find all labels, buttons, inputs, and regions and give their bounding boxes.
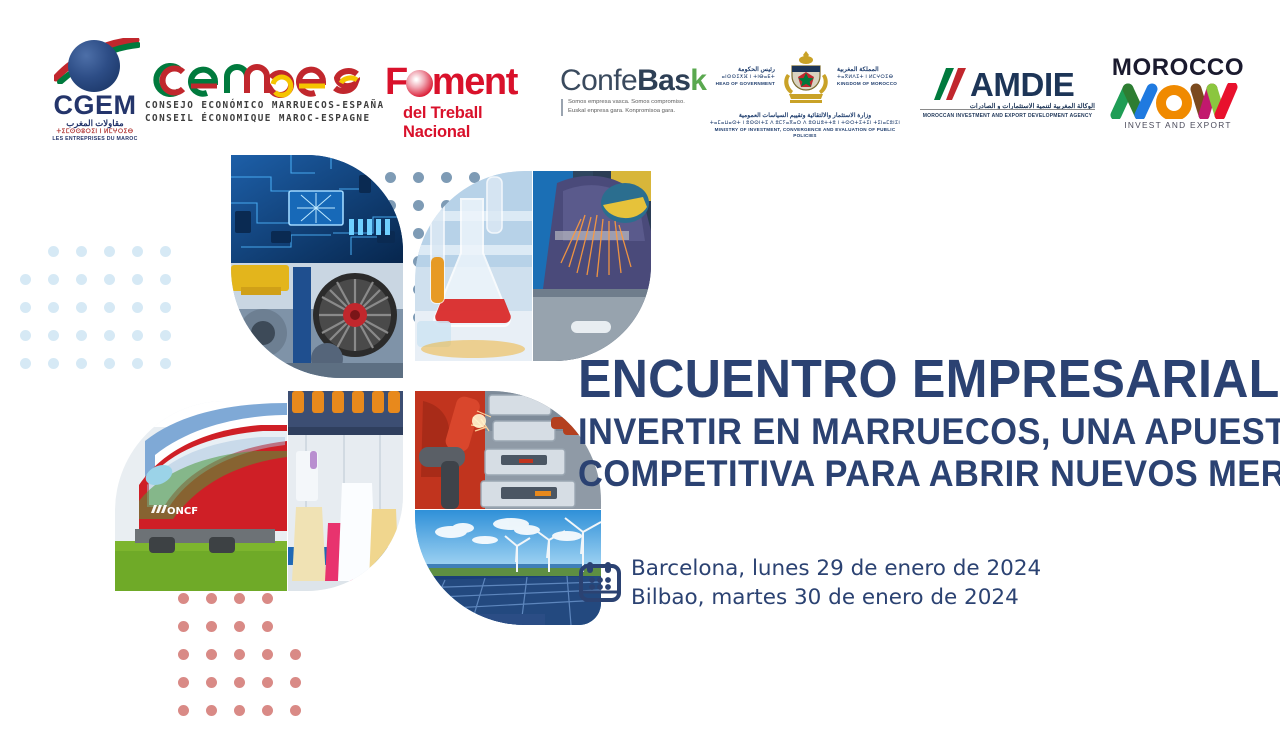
- gov-ministry-arabic: وزارة الاستثمار والالتقائية وتقييم السيا…: [705, 112, 905, 120]
- event-dates-block: Barcelona, lunes 29 de enero de 2024 Bil…: [578, 555, 1138, 617]
- collage-tile-welder: [533, 171, 651, 361]
- decorative-dot: [48, 246, 59, 257]
- cgem-globe-icon: [68, 40, 120, 92]
- gov-kingdom-english: KINGDOM OF MOROCCO: [837, 81, 905, 87]
- industry-photo-collage: ONCF: [115, 155, 585, 625]
- cemaes-wordmark-icon: [145, 62, 360, 98]
- decorative-dot: [178, 705, 189, 716]
- decorative-dot: [104, 274, 115, 285]
- morocco-now-mark-icon: [1108, 83, 1248, 119]
- decorative-dot: [20, 330, 31, 341]
- gov-kingdom-arabic: المملكة المغربية: [837, 66, 905, 74]
- collage-tile-renewable-energy: [415, 510, 601, 625]
- decorative-dot: [76, 358, 87, 369]
- amdie-wordmark: AMDIE: [970, 68, 1074, 101]
- decorative-dot: [206, 705, 217, 716]
- morocco-now-subtitle: INVEST AND EXPORT: [1108, 120, 1248, 130]
- cgem-arabic-text: مقاولات المغرب: [40, 119, 150, 128]
- cgem-tifinagh-text: ⵜⵉⵎⵙⵙⵓⵔⵉⵏ ⵏ ⵍⵎⵖⵔⵉⴱ: [40, 129, 150, 136]
- collage-tile-aerospace-engine: [231, 263, 403, 378]
- decorative-dot: [262, 705, 273, 716]
- confebask-tagline-es: Somos empresa vasca. Somos compromiso.: [568, 99, 685, 105]
- decorative-dot: [20, 302, 31, 313]
- decorative-dot: [262, 649, 273, 660]
- morocco-now-logo[interactable]: MOROCCO INVEST AND EXPORT: [1108, 56, 1248, 134]
- gov-head-arabic: رئيس الحكومة: [705, 66, 775, 74]
- gov-ministry-block: وزارة الاستثمار والالتقائية وتقييم السيا…: [705, 112, 905, 139]
- decorative-dot: [104, 246, 115, 257]
- decorative-dot: [104, 330, 115, 341]
- gov-ministry-english: MINISTRY OF INVESTMENT, CONVERGENCE AND …: [705, 127, 905, 139]
- event-date-bilbao: Bilbao, martes 30 de enero de 2024: [631, 584, 1041, 613]
- cgem-french-text: LES ENTREPRISES DU MAROC: [40, 137, 150, 143]
- poster-canvas: CGEM مقاولات المغرب ⵜⵉⵎⵙⵙⵓⵔⵉⵏ ⵏ ⵍⵎⵖⵔⵉⴱ L…: [0, 0, 1280, 720]
- amdie-english-text: MOROCCAN INVESTMENT AND EXPORT DEVELOPME…: [920, 113, 1095, 119]
- confebask-divider: [561, 99, 563, 116]
- gov-head-of-government-block: رئيس الحكومة ⴰⵏⵙⵙⵉⵅⴼ ⵏ ⵜⵏⴱⴰⴹⵜ HEAD OF GO…: [705, 66, 775, 87]
- event-date-lines: Barcelona, lunes 29 de enero de 2024 Bil…: [631, 555, 1041, 612]
- decorative-dot: [262, 677, 273, 688]
- decorative-dot: [206, 677, 217, 688]
- page-subtitle-1: INVERTIR EN MARRUECOS, UNA APUESTA: [578, 411, 1192, 452]
- confebask-bas-text: Bas: [637, 64, 690, 97]
- confebask-k-text: k: [690, 64, 706, 97]
- gov-head-tifinagh: ⴰⵏⵙⵙⵉⵅⴼ ⵏ ⵜⵏⴱⴰⴹⵜ: [705, 74, 775, 81]
- decorative-dot: [76, 274, 87, 285]
- calendar-icon: [578, 559, 622, 603]
- decorative-dot: [178, 677, 189, 688]
- svg-text:ONCF: ONCF: [167, 506, 198, 517]
- foment-wordmark: Fment: [385, 63, 550, 101]
- decorative-dot: [290, 649, 301, 660]
- morocco-government-logo[interactable]: رئيس الحكومة ⴰⵏⵙⵙⵉⵅⴼ ⵏ ⵜⵏⴱⴰⴹⵜ HEAD OF GO…: [705, 48, 905, 140]
- foment-o-circle-icon: [406, 70, 433, 97]
- gov-ministry-tifinagh: ⵜⴰⵎⴰⵡⴰⵙⵜ ⵏ ⵓⵙⵙⵏⵜⵉ ⴷ ⵓⵎⵢⴰⴳⴰⵔ ⴷ ⵓⵙⵡⵓⵜⵜⵓ ⵏ …: [705, 120, 905, 127]
- amdie-divider: [920, 109, 1095, 110]
- event-date-barcelona: Barcelona, lunes 29 de enero de 2024: [631, 555, 1041, 584]
- page-subtitle-2: COMPETITIVA PARA ABRIR NUEVOS MERCADOS: [578, 453, 1192, 494]
- collage-tile-chemistry-lab: [415, 171, 532, 361]
- decorative-dot: [234, 649, 245, 660]
- confebask-logo[interactable]: ConfeBask Somos empresa vasca. Somos com…: [560, 66, 705, 128]
- cgem-logo[interactable]: CGEM مقاولات المغرب ⵜⵉⵎⵙⵙⵓⵔⵉⵏ ⵏ ⵍⵎⵖⵔⵉⴱ L…: [40, 40, 150, 140]
- morocco-now-top-text: MOROCCO: [1108, 56, 1248, 80]
- foment-logo[interactable]: Fment del Treball Nacional: [385, 63, 550, 128]
- foment-subtitle: del Treball Nacional: [403, 104, 550, 142]
- cgem-wordmark: CGEM: [40, 92, 150, 119]
- event-title-block: ENCUENTRO EMPRESARIAL INVERTIR EN MARRUE…: [578, 352, 1238, 494]
- decorative-dot: [48, 358, 59, 369]
- decorative-dot: [178, 649, 189, 660]
- foment-ment-letters: ment: [432, 61, 517, 103]
- collage-tile-circuit-board: [231, 155, 403, 263]
- cemaes-spanish-line: CONSEJO ECONÓMICO MARRUECOS-ESPAÑA: [145, 100, 360, 111]
- partner-logo-bar: CGEM مقاولات المغرب ⵜⵉⵎⵙⵙⵓⵔⵉⵏ ⵏ ⵍⵎⵖⵔⵉⴱ L…: [0, 18, 1280, 128]
- decorative-dot: [48, 330, 59, 341]
- decorative-dot: [104, 302, 115, 313]
- decorative-dot: [76, 246, 87, 257]
- decorative-dot: [206, 649, 217, 660]
- page-title: ENCUENTRO EMPRESARIAL: [578, 352, 1192, 407]
- cemaes-logo[interactable]: CONSEJO ECONÓMICO MARRUECOS-ESPAÑA CONSE…: [145, 62, 360, 132]
- decorative-dot: [20, 274, 31, 285]
- decorative-dot: [76, 330, 87, 341]
- collage-tile-textile-spools: [288, 391, 403, 591]
- decorative-dot: [234, 705, 245, 716]
- collage-tile-oncf-train: ONCF: [115, 401, 287, 591]
- foment-f-letter: F: [385, 61, 407, 103]
- morocco-coat-of-arms-icon: [777, 48, 835, 110]
- confebask-wordmark: ConfeBask: [560, 66, 706, 96]
- confebask-tagline-eu: Euskal enpresa gara. Konpromisoa gara.: [568, 108, 675, 114]
- decorative-dot: [48, 274, 59, 285]
- gov-kingdom-block: المملكة المغربية ⵜⴰⴳⵍⴷⵉⵜ ⵏ ⵍⵎⵖⵔⵉⴱ KINGDO…: [837, 66, 905, 87]
- decorative-dot: [48, 302, 59, 313]
- decorative-dot: [76, 302, 87, 313]
- decorative-dot: [104, 358, 115, 369]
- amdie-logo[interactable]: AMDIE الوكالة المغربية لتنمية الاستثمارا…: [920, 66, 1095, 128]
- gov-kingdom-tifinagh: ⵜⴰⴳⵍⴷⵉⵜ ⵏ ⵍⵎⵖⵔⵉⴱ: [837, 74, 905, 81]
- collage-tile-automotive-robot: [415, 391, 601, 509]
- decorative-dot: [234, 677, 245, 688]
- decorative-dot: [20, 358, 31, 369]
- confebask-confe-text: Confe: [560, 64, 637, 97]
- cemaes-french-line: CONSEIL ÉCONOMIQUE MAROC-ESPAGNE: [145, 113, 360, 124]
- decorative-dot: [290, 705, 301, 716]
- gov-head-english: HEAD OF GOVERNMENT: [705, 81, 775, 87]
- decorative-dot: [290, 677, 301, 688]
